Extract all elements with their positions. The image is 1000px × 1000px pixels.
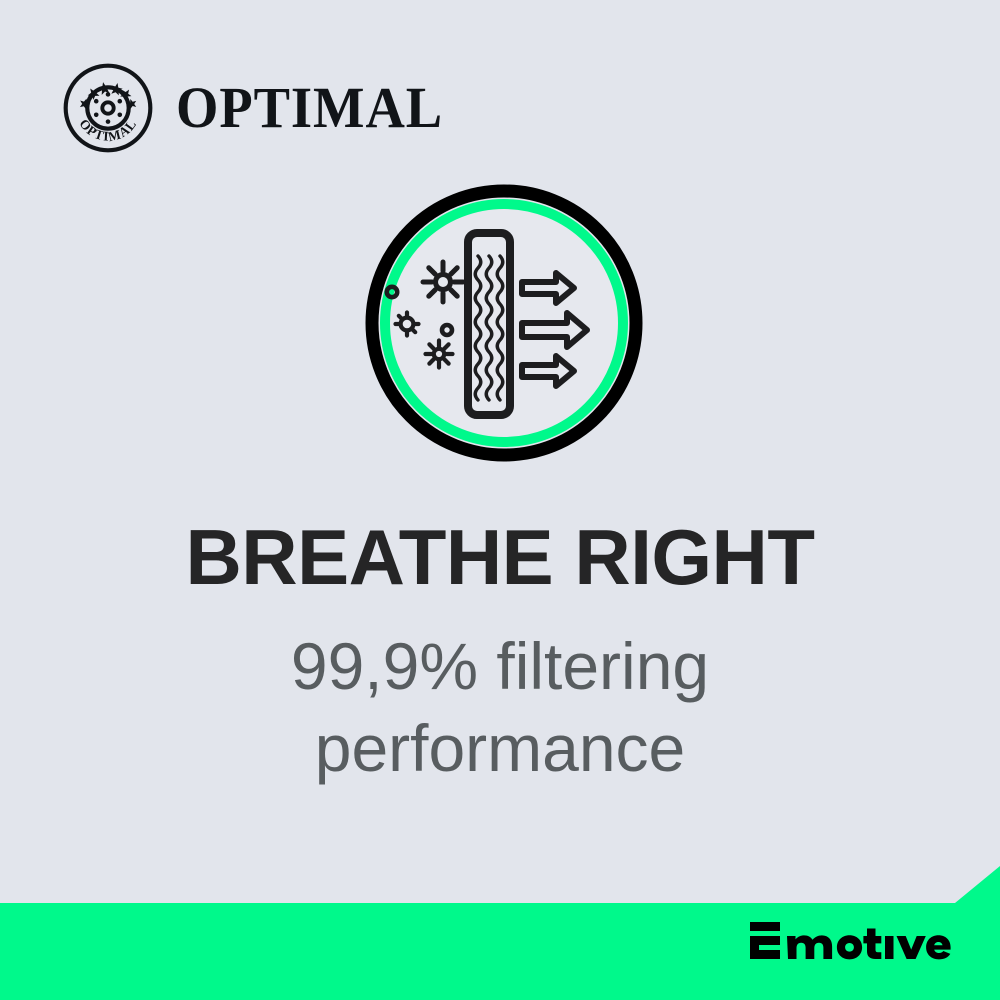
air-filter-icon xyxy=(365,184,643,462)
optimal-wordmark: OPTIMAL xyxy=(176,79,443,137)
page-subtitle: 99,9% filtering performance xyxy=(0,626,1000,790)
optimal-seal-icon: OPTIMAL xyxy=(62,62,154,154)
emotive-logo xyxy=(746,922,958,970)
subtitle-line-1: 99,9% filtering xyxy=(291,629,709,703)
brand-lockup: OPTIMAL OPTIMAL xyxy=(62,62,460,154)
subtitle-line-2: performance xyxy=(0,708,1000,790)
poster-canvas: OPTIMAL OPTIMAL xyxy=(0,0,1000,1000)
page-title: BREATHE RIGHT xyxy=(0,518,1000,596)
